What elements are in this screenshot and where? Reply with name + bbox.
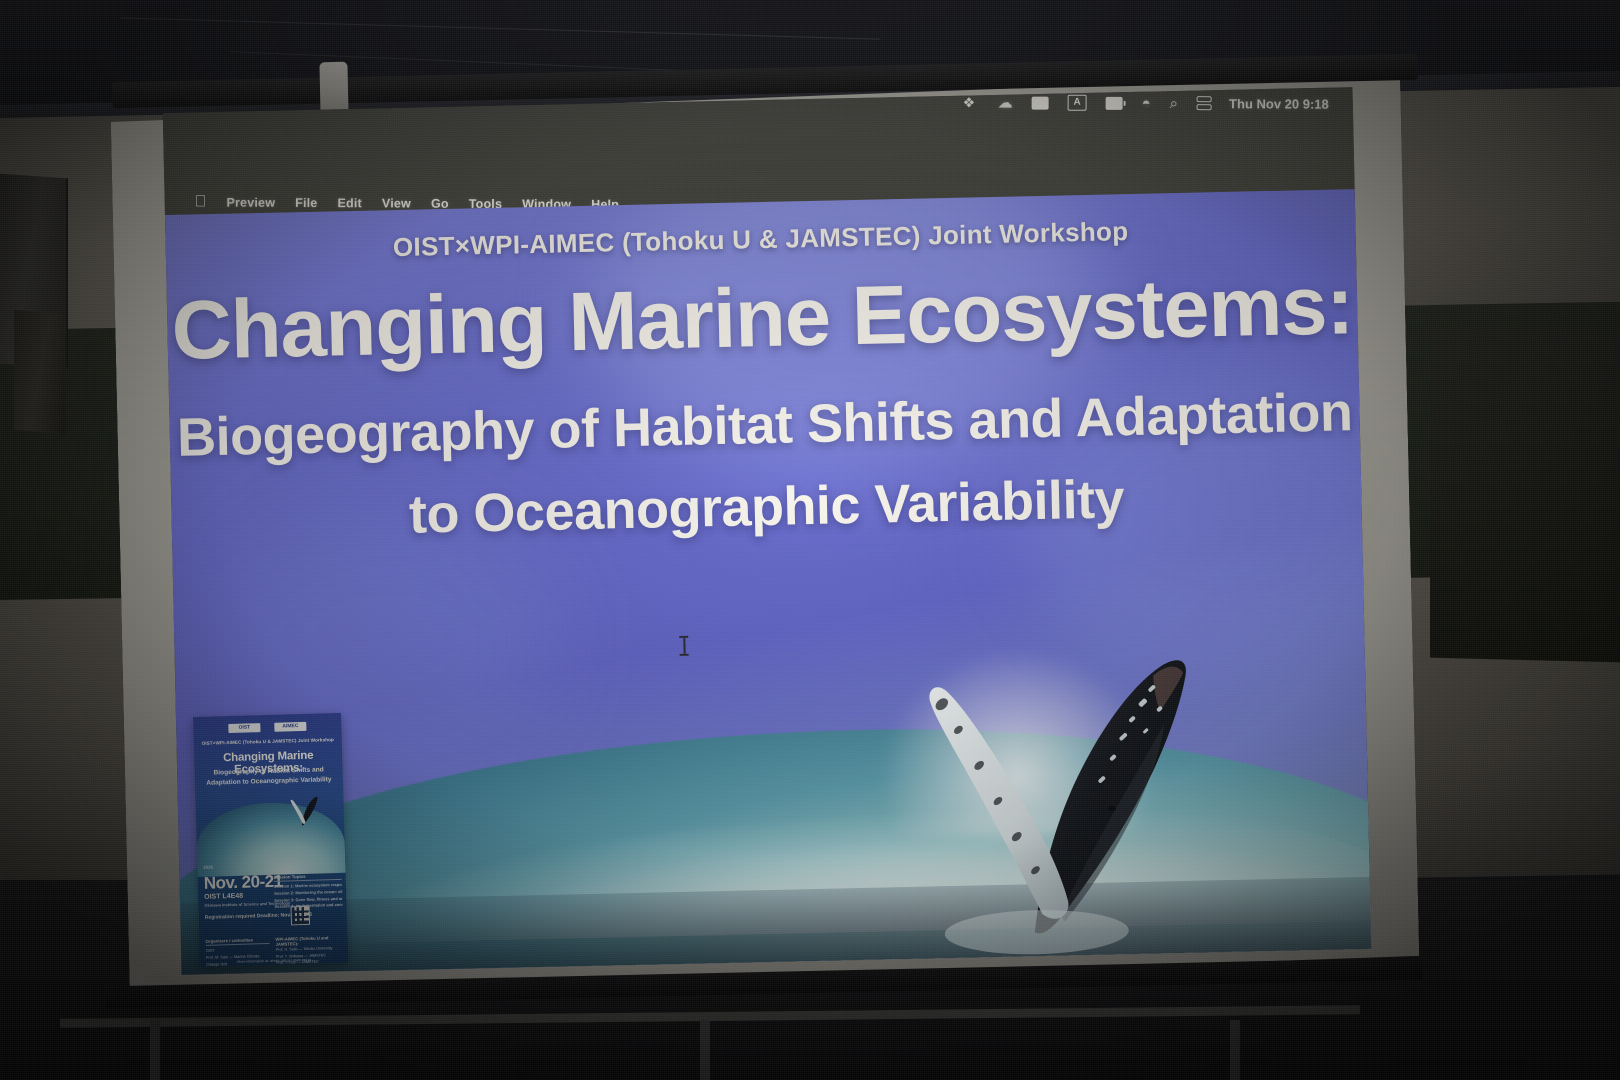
bench-post-mid: [700, 1020, 710, 1080]
control-center-icon[interactable]: [1197, 96, 1210, 110]
poster-logos: OIST AIMEC: [193, 721, 341, 734]
dropbox-icon[interactable]: ❖: [962, 95, 978, 109]
menu-edit[interactable]: Edit: [337, 196, 361, 210]
display-icon[interactable]: [1031, 96, 1048, 109]
humpback-whale-icon: [840, 609, 1267, 948]
menu-bar-clock[interactable]: Thu Nov 20 9:18: [1229, 96, 1329, 111]
poster-venue: OIST L4E48: [204, 893, 243, 901]
poster-logo-oist: OIST: [228, 723, 260, 733]
menu-file[interactable]: File: [295, 196, 317, 210]
poster-thumbnail: OIST AIMEC OIST×WPI-AIMEC (Tohoku U & JA…: [193, 713, 348, 967]
poster-whale-icon: [281, 791, 326, 836]
lecture-hall-photo:  Preview File Edit View Go Tools Window…: [0, 0, 1620, 1080]
poster-kicker: OIST×WPI-AIMEC (Tohoku U & JAMSTEC) Join…: [194, 737, 342, 746]
slide-subtitle-line-1: Biogeography of Habitat Shifts and Adapt…: [169, 385, 1360, 465]
slide-workshop-header: OIST×WPI-AIMEC (Tohoku U & JAMSTEC) Join…: [165, 211, 1355, 268]
slide-title: Changing Marine Ecosystems:: [167, 263, 1359, 372]
right-cabinet: [1430, 328, 1620, 663]
apple-menu-icon[interactable]: : [194, 194, 206, 210]
bench-post-left: [150, 1020, 160, 1080]
cloud-sync-icon[interactable]: ☁: [997, 95, 1012, 110]
wall-speaker-lower: [14, 310, 66, 435]
bench-post-right: [1230, 1020, 1240, 1080]
poster-subtitle: Biogeography of Habitat Shifts and Adapt…: [201, 765, 337, 788]
menu-preview[interactable]: Preview: [226, 196, 275, 210]
slide-subtitle-line-2: to Oceanographic Variability: [171, 467, 1362, 547]
poster-topics-heading: Session Topics: [274, 873, 342, 882]
spotlight-search-icon[interactable]: ⌕: [1169, 96, 1177, 111]
projector-screen:  Preview File Edit View Go Tools Window…: [120, 88, 1410, 1018]
projected-desktop:  Preview File Edit View Go Tools Window…: [163, 87, 1372, 975]
input-source-icon[interactable]: A: [1067, 95, 1086, 111]
screen-roller-cap: [319, 62, 348, 117]
battery-icon[interactable]: [1105, 96, 1122, 109]
poster-topics: Session Topics Session 1: Marine ecosyst…: [274, 873, 343, 911]
text-cursor: [679, 636, 688, 656]
poster-date-year: 2025: [203, 865, 213, 870]
menu-view[interactable]: View: [382, 196, 411, 210]
presentation-slide: OIST×WPI-AIMEC (Tohoku U & JAMSTEC) Join…: [165, 189, 1371, 975]
poster-logo-aimec: AIMEC: [274, 722, 306, 732]
poster-topic-4: Session 4: Implementation and conservati…: [274, 902, 342, 911]
poster-date: Nov. 20-21: [204, 873, 283, 892]
wifi-icon[interactable]: ◓: [1141, 95, 1150, 110]
poster-organizers-heading: Organizers / committee: [205, 937, 269, 946]
menu-bar-status-items: ❖ ☁ A ◓ ⌕ Thu Nov 20 9:18: [962, 94, 1328, 111]
